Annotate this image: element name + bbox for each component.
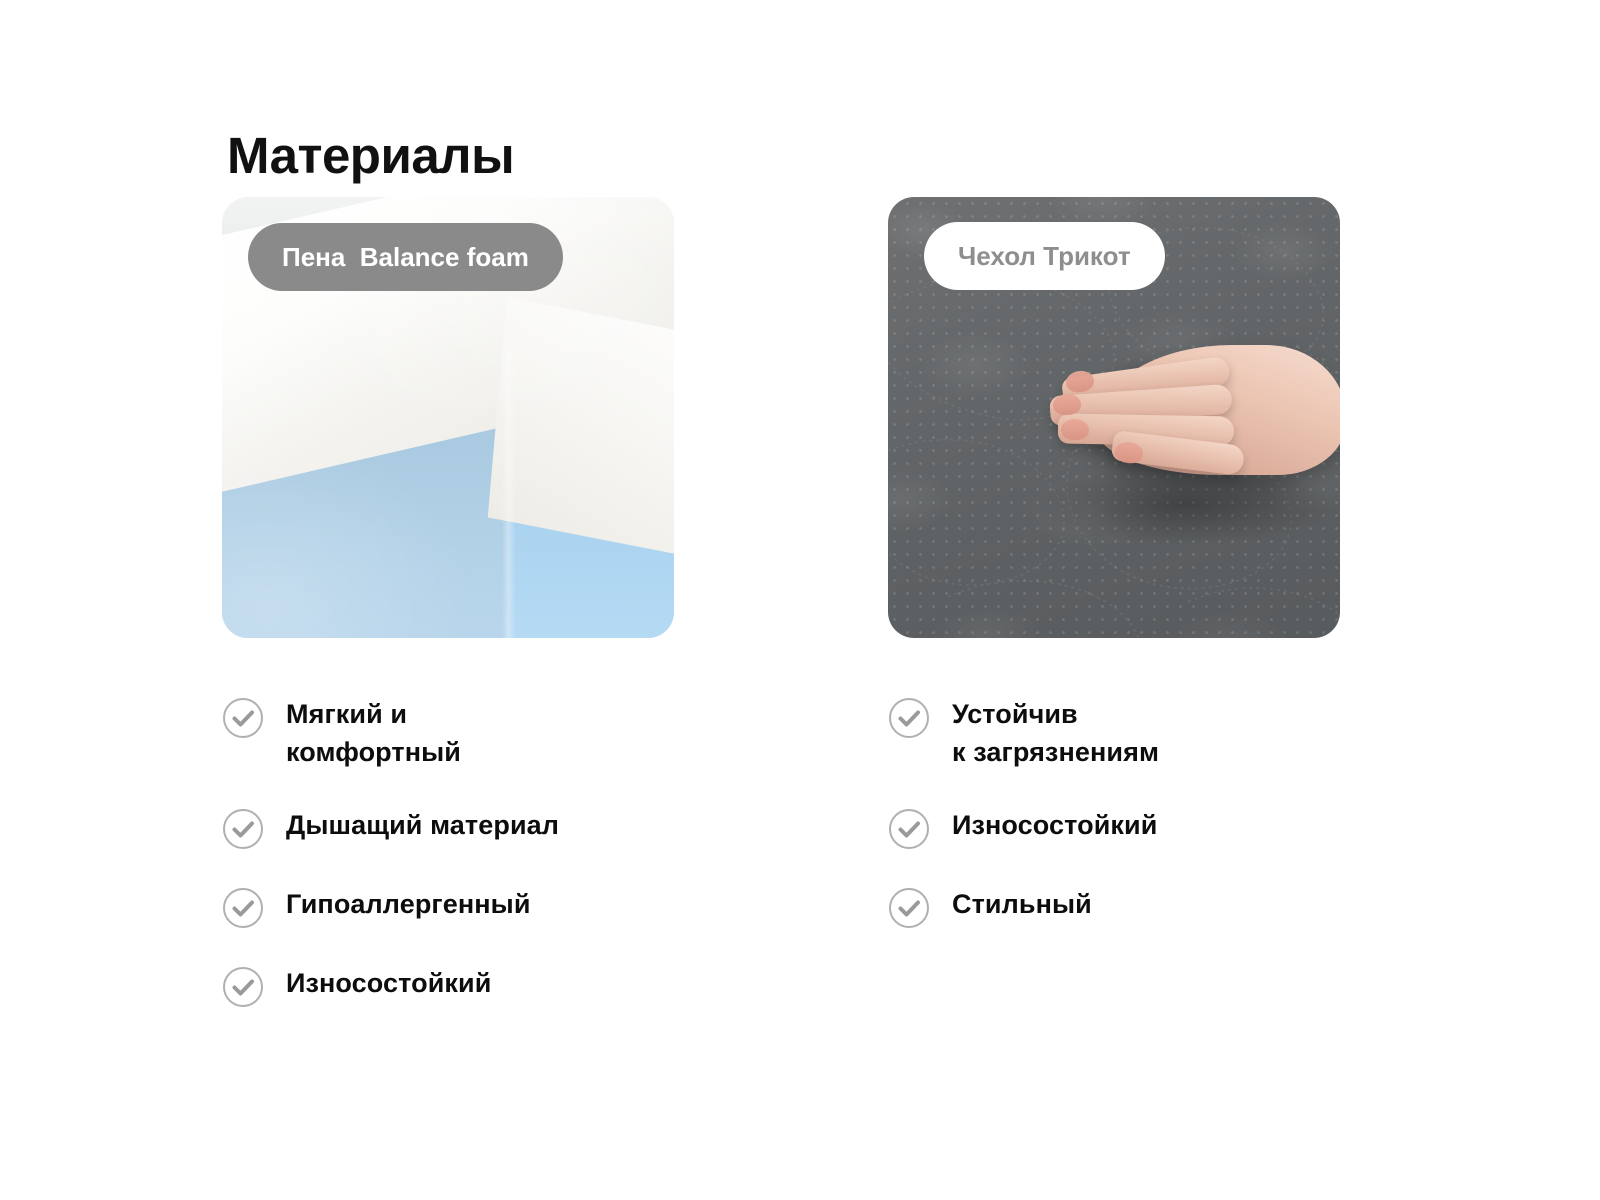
cover-media-card[interactable]: Чехол Трикот <box>888 197 1340 638</box>
check-circle-icon <box>222 808 264 850</box>
cover-feature-list: Устойчив к загрязнениям Износостойкий <box>888 694 1340 929</box>
foam-feature-list: Мягкий и комфортный Дышащий материал <box>222 694 674 1008</box>
list-item: Устойчив к загрязнениям <box>888 694 1340 771</box>
check-circle-icon <box>222 887 264 929</box>
hand-on-cover <box>1016 345 1340 487</box>
check-circle-icon <box>888 808 930 850</box>
list-item: Стильный <box>888 884 1340 929</box>
list-item-label: Устойчив к загрязнениям <box>952 694 1159 771</box>
list-item-label: Дышащий материал <box>286 805 559 844</box>
list-item-label: Стильный <box>952 884 1092 923</box>
list-item-label: Износостойкий <box>952 805 1157 844</box>
list-item-label: Гипоаллергенный <box>286 884 531 923</box>
foam-badge: Пена Balance foam <box>248 223 563 291</box>
fingernail <box>1061 419 1089 440</box>
check-circle-icon <box>888 887 930 929</box>
materials-page: Материалы Пена Balance foam <box>0 0 1600 1200</box>
list-item: Дышащий материал <box>222 805 674 850</box>
foam-media-card[interactable]: Пена Balance foam <box>222 197 674 638</box>
list-item: Износостойкий <box>888 805 1340 850</box>
cover-badge: Чехол Трикот <box>924 222 1165 290</box>
list-item-label: Износостойкий <box>286 963 491 1002</box>
page-title: Материалы <box>227 130 514 181</box>
check-circle-icon <box>222 697 264 739</box>
check-circle-icon <box>222 966 264 1008</box>
hand-shadow <box>1036 465 1336 545</box>
list-item-label: Мягкий и комфортный <box>286 694 461 771</box>
list-item: Гипоаллергенный <box>222 884 674 929</box>
list-item: Мягкий и комфортный <box>222 694 674 771</box>
check-circle-icon <box>888 697 930 739</box>
list-item: Износостойкий <box>222 963 674 1008</box>
material-column-cover: Чехол Трикот Устойчив к загрязнениям <box>888 197 1340 638</box>
material-column-foam: Пена Balance foam Мягкий и комфортный <box>222 197 674 638</box>
